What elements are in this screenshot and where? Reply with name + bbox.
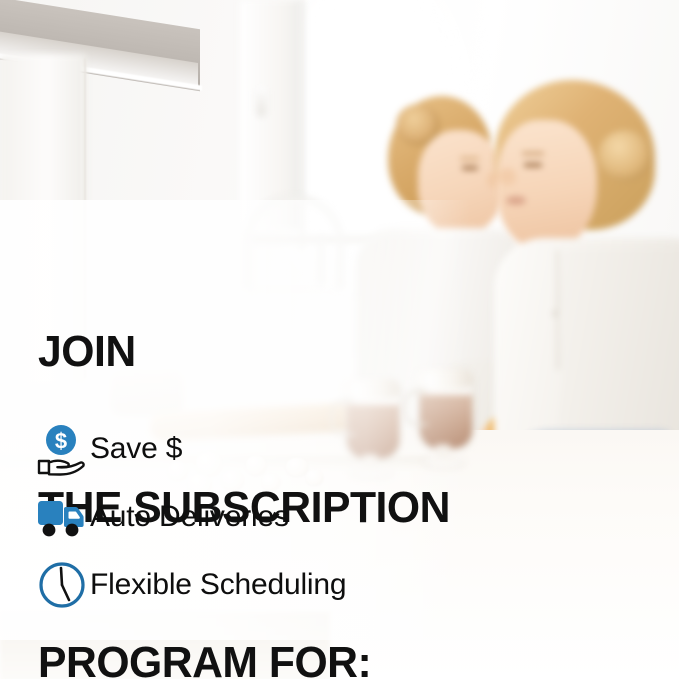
benefit-label-delivery: Auto Deliveries [90, 500, 289, 534]
svg-text:$: $ [55, 429, 67, 454]
benefit-item-scheduling: Flexible Scheduling [36, 551, 456, 619]
benefits-list: $ Save $ [36, 415, 456, 619]
money-in-hand-icon: $ [36, 421, 90, 477]
headline-line-1: JOIN [38, 326, 450, 377]
benefit-label-save: Save $ [90, 432, 182, 466]
promo-content: JOIN THE SUBSCRIPTION PROGRAM FOR: $ Sav… [0, 0, 679, 679]
promo-banner: JOIN THE SUBSCRIPTION PROGRAM FOR: $ Sav… [0, 0, 679, 679]
headline-line-3: PROGRAM FOR: [38, 637, 450, 679]
delivery-truck-icon [36, 489, 90, 545]
clock-icon [36, 557, 90, 613]
benefit-item-delivery: Auto Deliveries [36, 483, 456, 551]
benefit-label-scheduling: Flexible Scheduling [90, 568, 346, 602]
benefit-item-save: $ Save $ [36, 415, 456, 483]
